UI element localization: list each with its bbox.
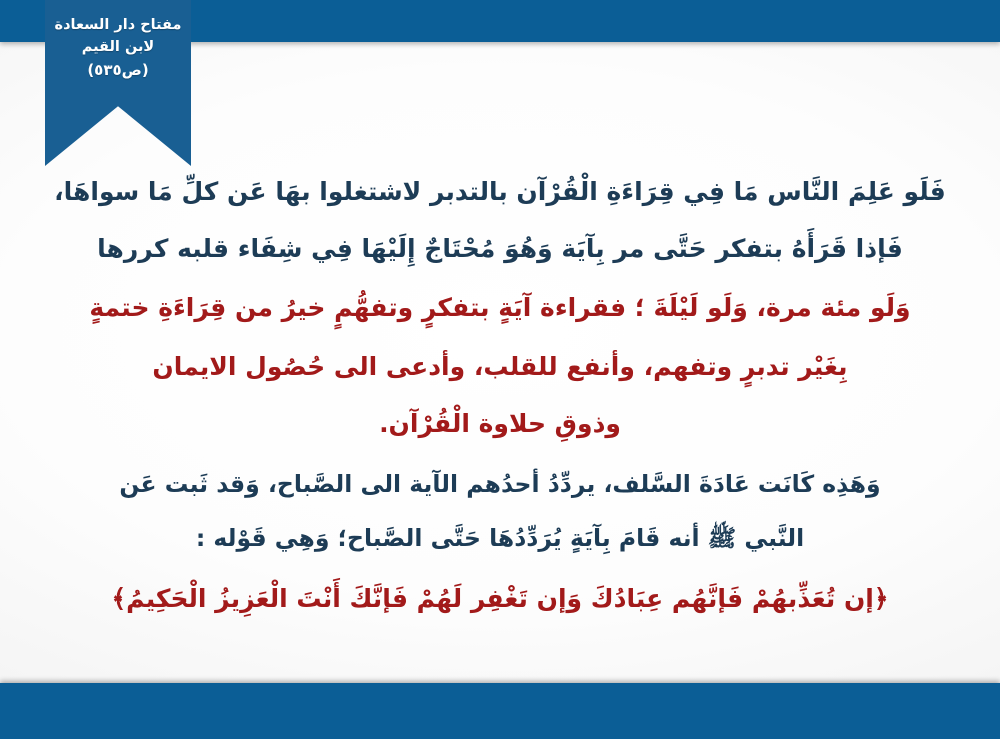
quote-line-5: وذوقِ حلاوة الْقُرْآن. [28,404,972,443]
ribbon-book-title: مفتاح دار السعادة [45,14,191,36]
quote-body: فَلَو عَلِمَ النَّاس مَا فِي قِرَاءَةِ ا… [28,172,972,619]
quote-card: مفتاح دار السعادة لابن القيم (ص٥٣٥) فَلَ… [0,0,1000,739]
ribbon-author: لابن القيم [45,36,191,58]
source-ribbon: مفتاح دار السعادة لابن القيم (ص٥٣٥) [45,0,191,166]
quote-line-2: فَإذا قَرَأَهُ بتفكر حَتَّى مر بِآيَة وَ… [28,229,972,268]
quote-line-3: وَلَو مئة مرة، وَلَو لَيْلَةَ ؛ فقراءة آ… [28,288,972,327]
quote-line-7: النَّبي ﷺ أنه قَامَ بِآيَةٍ يُرَدِّدُهَا… [28,519,972,557]
quote-line-4: بِغَيْر تدبرٍ وتفهم، وأنفع للقلب، وأدعى … [28,347,972,386]
quran-verse-line: ﴿إن تُعَذِّبهُمْ فَإنَّهُم عِبَادُكَ وَإ… [28,579,972,619]
quote-line-1: فَلَو عَلِمَ النَّاس مَا فِي قِرَاءَةِ ا… [28,172,972,211]
bottom-accent-bar [0,683,1000,739]
ribbon-page-reference: (ص٥٣٥) [45,59,191,82]
quote-line-6: وَهَذِه كَانَت عَادَةَ السَّلف، يردِّدُ … [28,465,972,503]
